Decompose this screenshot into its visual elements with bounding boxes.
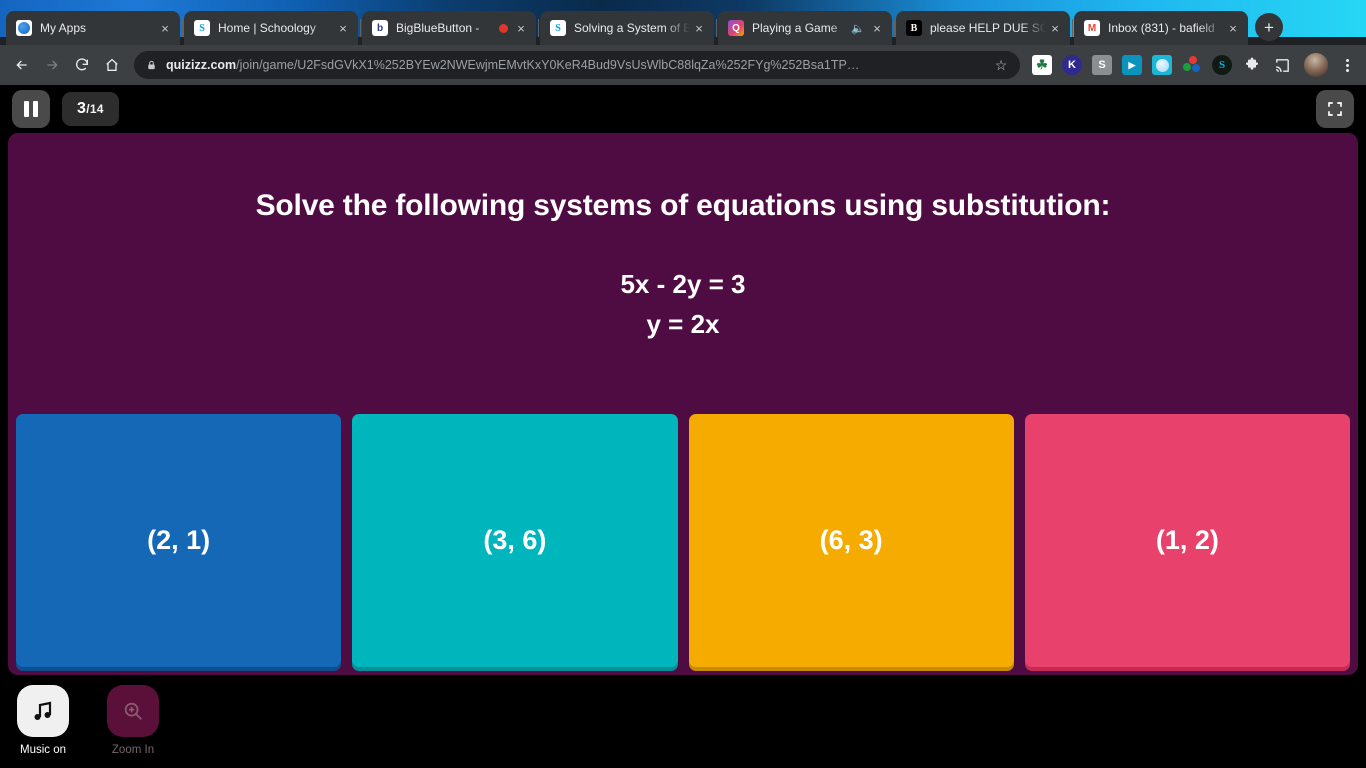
- profile-avatar[interactable]: [1304, 53, 1328, 77]
- tab-close-icon[interactable]: ×: [156, 19, 174, 37]
- browser-tab-schoology-home[interactable]: S Home | Schoology ×: [184, 11, 358, 45]
- onedrive-extension-icon[interactable]: [1152, 55, 1172, 75]
- fullscreen-icon[interactable]: [1316, 90, 1354, 128]
- tab-separator: [894, 19, 895, 37]
- zoom-in-label: Zoom In: [112, 744, 154, 756]
- cast-icon[interactable]: [1272, 55, 1292, 75]
- game-header: 3/14: [0, 85, 1366, 133]
- tab-audio-icon[interactable]: 🔈: [851, 22, 865, 35]
- equation-line-1: 5x - 2y = 3: [620, 264, 745, 304]
- tab-close-icon[interactable]: ×: [1046, 19, 1064, 37]
- browser-tab-please-help[interactable]: B please HELP DUE SOON ×: [896, 11, 1070, 45]
- browser-tab-my-apps[interactable]: My Apps ×: [6, 11, 180, 45]
- tab-close-icon[interactable]: ×: [512, 19, 530, 37]
- skype-extension-icon[interactable]: S: [1212, 55, 1232, 75]
- answer-option-2[interactable]: (3, 6): [352, 414, 677, 667]
- tab-separator: [1072, 19, 1073, 37]
- tab-title: please HELP DUE SOON: [930, 21, 1046, 35]
- answer-options: (2, 1) (3, 6) (6, 3) (1, 2): [8, 414, 1358, 675]
- music-note-icon: [17, 685, 69, 737]
- back-arrow-icon[interactable]: [8, 51, 36, 79]
- tab-title: My Apps: [40, 21, 156, 35]
- tab-separator: [182, 19, 183, 37]
- bigbluebutton-icon: b: [372, 20, 388, 36]
- question-area: Solve the following systems of equations…: [8, 133, 1358, 414]
- bookmark-star-icon[interactable]: ☆: [992, 57, 1010, 74]
- tab-title: Playing a Game: [752, 21, 851, 35]
- tab-separator: [538, 19, 539, 37]
- question-equations: 5x - 2y = 3 y = 2x: [620, 264, 745, 345]
- tab-close-icon[interactable]: ×: [334, 19, 352, 37]
- screencastify-extension-icon[interactable]: S: [1092, 55, 1112, 75]
- tab-title: Solving a System of E: [574, 21, 690, 35]
- question-text: Solve the following systems of equations…: [256, 188, 1111, 224]
- quizizz-game-page: 3/14 Solve the following systems of equa…: [0, 85, 1366, 768]
- game-bottom-bar: Music on Zoom In: [0, 675, 1366, 768]
- answer-option-3[interactable]: (6, 3): [689, 414, 1014, 667]
- new-tab-button[interactable]: +: [1255, 13, 1283, 41]
- tab-title: Home | Schoology: [218, 21, 334, 35]
- tab-title: Inbox (831) - bafield: [1108, 21, 1224, 35]
- question-total: /14: [86, 102, 104, 116]
- url-text: quizizz.com/join/game/U2FsdGVkX1%252BYEw…: [166, 58, 984, 72]
- browser-toolbar: quizizz.com/join/game/U2FsdGVkX1%252BYEw…: [0, 45, 1366, 85]
- address-bar[interactable]: quizizz.com/join/game/U2FsdGVkX1%252BYEw…: [134, 51, 1020, 79]
- zoom-in-magnifier-icon: [107, 685, 159, 737]
- browser-chrome: My Apps × S Home | Schoology × b BigBlue…: [0, 0, 1366, 85]
- tab-title: BigBlueButton -: [396, 21, 499, 35]
- zoom-in-button[interactable]: Zoom In: [104, 685, 162, 756]
- reload-icon[interactable]: [68, 51, 96, 79]
- blackboard-icon: B: [906, 20, 922, 36]
- music-toggle-label: Music on: [20, 744, 66, 756]
- cloud-myapps-icon: [16, 20, 32, 36]
- music-toggle-button[interactable]: Music on: [14, 685, 72, 756]
- recording-indicator-icon: [499, 24, 508, 33]
- color-dots-extension-icon[interactable]: [1182, 55, 1202, 75]
- question-card: Solve the following systems of equations…: [8, 133, 1358, 675]
- schoology-icon: S: [550, 20, 566, 36]
- tab-close-icon[interactable]: ×: [690, 19, 708, 37]
- puzzle-extensions-icon[interactable]: [1242, 55, 1262, 75]
- quizizz-icon: Q: [728, 20, 744, 36]
- kami-extension-icon[interactable]: K: [1062, 55, 1082, 75]
- gmail-icon: M: [1084, 20, 1100, 36]
- question-current: 3: [77, 100, 86, 118]
- url-host: quizizz.com: [166, 58, 236, 72]
- chrome-menu-icon[interactable]: [1336, 59, 1358, 72]
- tab-strip: My Apps × S Home | Schoology × b BigBlue…: [0, 0, 1366, 45]
- tab-separator: [716, 19, 717, 37]
- home-icon[interactable]: [98, 51, 126, 79]
- tab-close-icon[interactable]: ×: [868, 19, 886, 37]
- browser-tab-playing-a-game[interactable]: Q Playing a Game 🔈 ×: [718, 11, 892, 45]
- equation-line-2: y = 2x: [620, 304, 745, 344]
- question-counter: 3/14: [62, 92, 119, 126]
- url-path: /join/game/U2FsdGVkX1%252BYEw2NWEwjmEMvt…: [236, 58, 859, 72]
- ivy-extension-icon[interactable]: ☘: [1032, 55, 1052, 75]
- pause-icon[interactable]: [12, 90, 50, 128]
- forward-arrow-icon[interactable]: [38, 51, 66, 79]
- video-extension-icon[interactable]: ▶: [1122, 55, 1142, 75]
- answer-option-4[interactable]: (1, 2): [1025, 414, 1350, 667]
- lock-icon: [146, 59, 157, 71]
- browser-tab-solving-a-system[interactable]: S Solving a System of E ×: [540, 11, 714, 45]
- tab-separator: [360, 19, 361, 37]
- schoology-icon: S: [194, 20, 210, 36]
- answer-option-1[interactable]: (2, 1): [16, 414, 341, 667]
- browser-tab-bigbluebutton[interactable]: b BigBlueButton - ×: [362, 11, 536, 45]
- browser-tab-gmail-inbox[interactable]: M Inbox (831) - bafield ×: [1074, 11, 1248, 45]
- tab-close-icon[interactable]: ×: [1224, 19, 1242, 37]
